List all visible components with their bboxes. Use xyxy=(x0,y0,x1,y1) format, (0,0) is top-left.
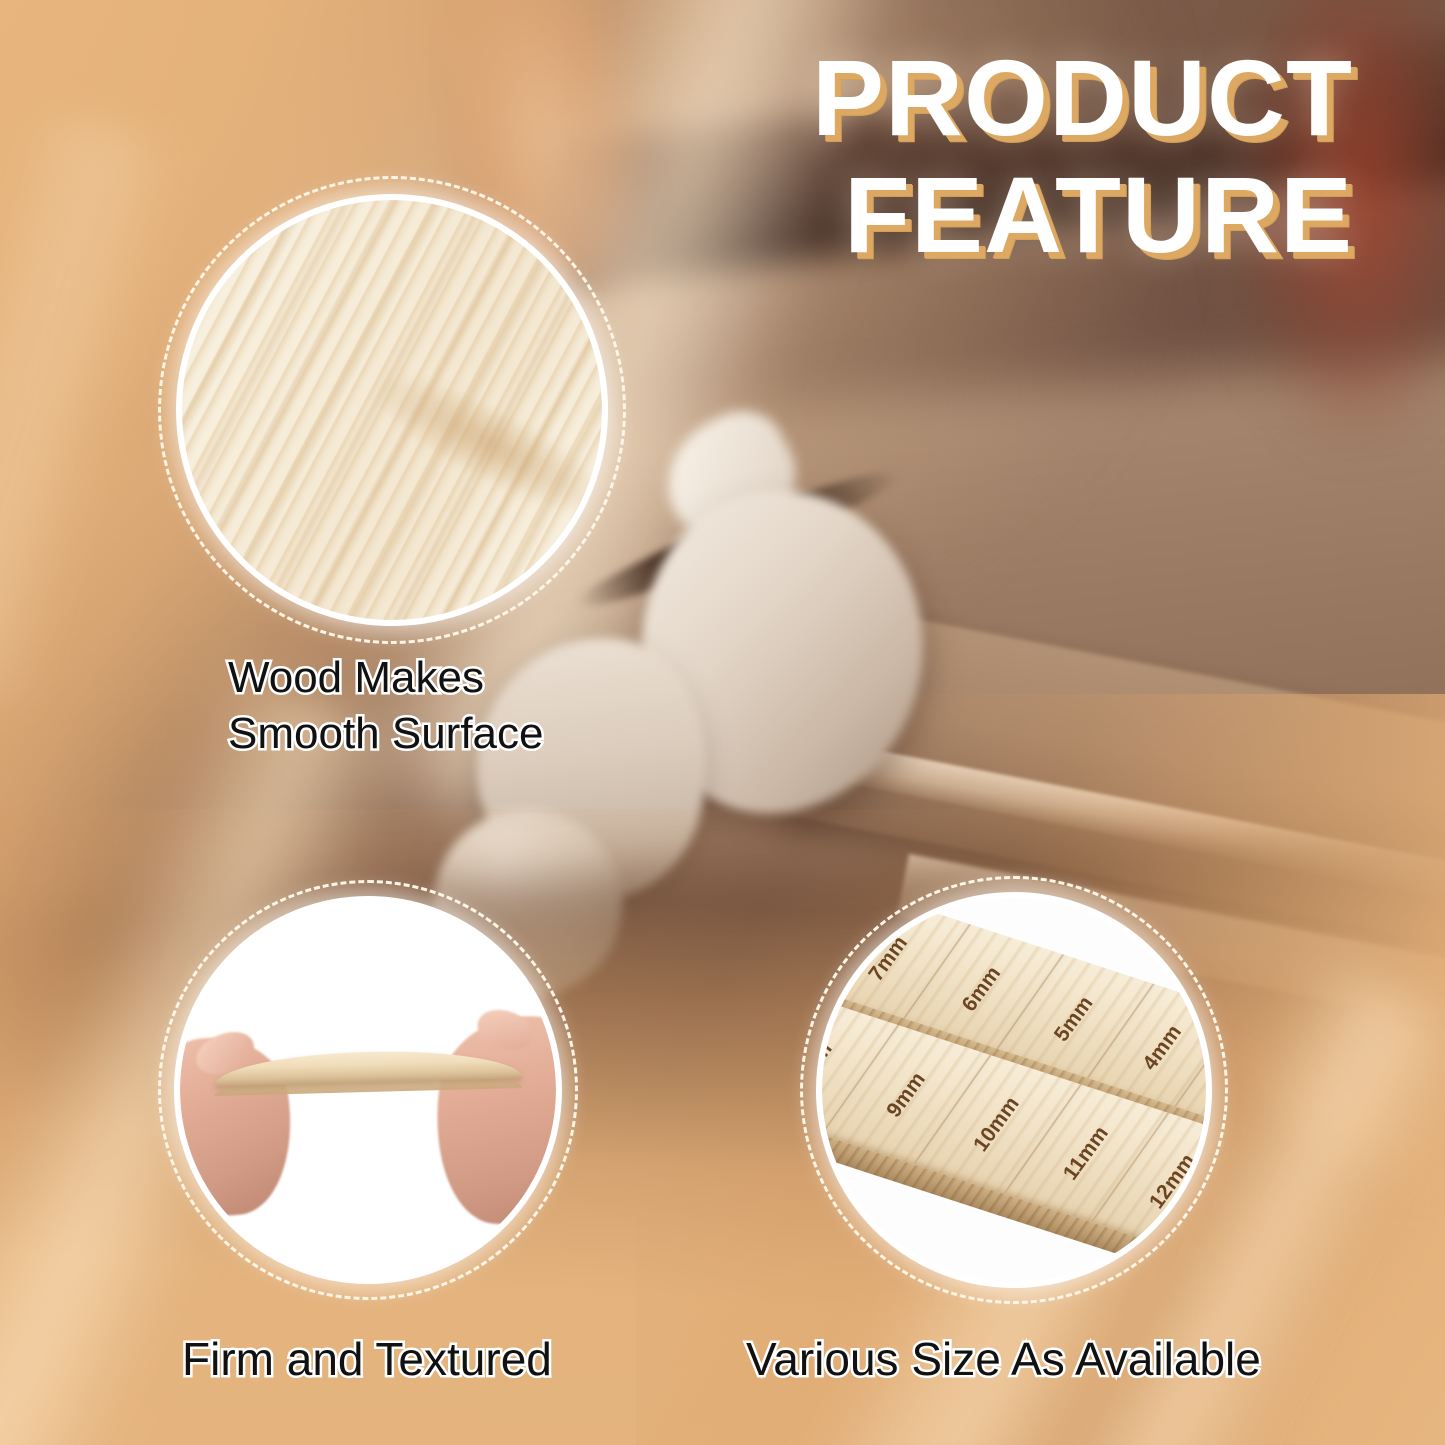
caption-line-1: Wood Makes xyxy=(228,650,544,706)
board-thickness-label: 10mm xyxy=(969,1092,1025,1156)
board-thickness-label: 8mm xyxy=(822,1038,838,1093)
solid-ring: 7mm 6mm 5mm 4mm 3mm xyxy=(816,892,1212,1288)
title-line-feature: FEATURE xyxy=(812,157,1353,274)
caption-line-2: Smooth Surface xyxy=(228,706,544,762)
solid-ring xyxy=(174,896,562,1284)
title-line-product: PRODUCT xyxy=(812,40,1353,157)
caption-firm-textured: Firm and Textured xyxy=(182,1330,552,1389)
page-title: PRODUCT FEATURE xyxy=(812,40,1353,273)
board-thickness-label: 9mm xyxy=(882,1068,931,1123)
bending-wood-photo xyxy=(180,902,556,1278)
product-feature-infographic: PRODUCT FEATURE Wood Makes Smooth Surfac… xyxy=(0,0,1445,1445)
board-thickness-label: 12mm xyxy=(1145,1149,1201,1213)
board-thickness-label: 7mm xyxy=(864,932,913,987)
board-sizes-photo: 7mm 6mm 5mm 4mm 3mm xyxy=(822,898,1206,1282)
caption-various-sizes: Various Size As Available xyxy=(746,1330,1261,1389)
caption-smooth-surface: Wood Makes Smooth Surface xyxy=(228,650,544,763)
feature-bubble-smooth-surface xyxy=(158,176,626,644)
feature-bubble-various-sizes: 7mm 6mm 5mm 4mm 3mm xyxy=(800,876,1228,1304)
feature-bubble-firm-textured xyxy=(158,880,578,1300)
board-thickness-label: 4mm xyxy=(1138,1021,1187,1076)
board-thickness-label: 5mm xyxy=(1049,992,1098,1047)
board-thickness-label: 11mm xyxy=(1059,1122,1114,1185)
wood-grain-photo xyxy=(182,200,602,620)
board-thickness-label: 6mm xyxy=(958,962,1007,1017)
solid-ring xyxy=(176,194,608,626)
